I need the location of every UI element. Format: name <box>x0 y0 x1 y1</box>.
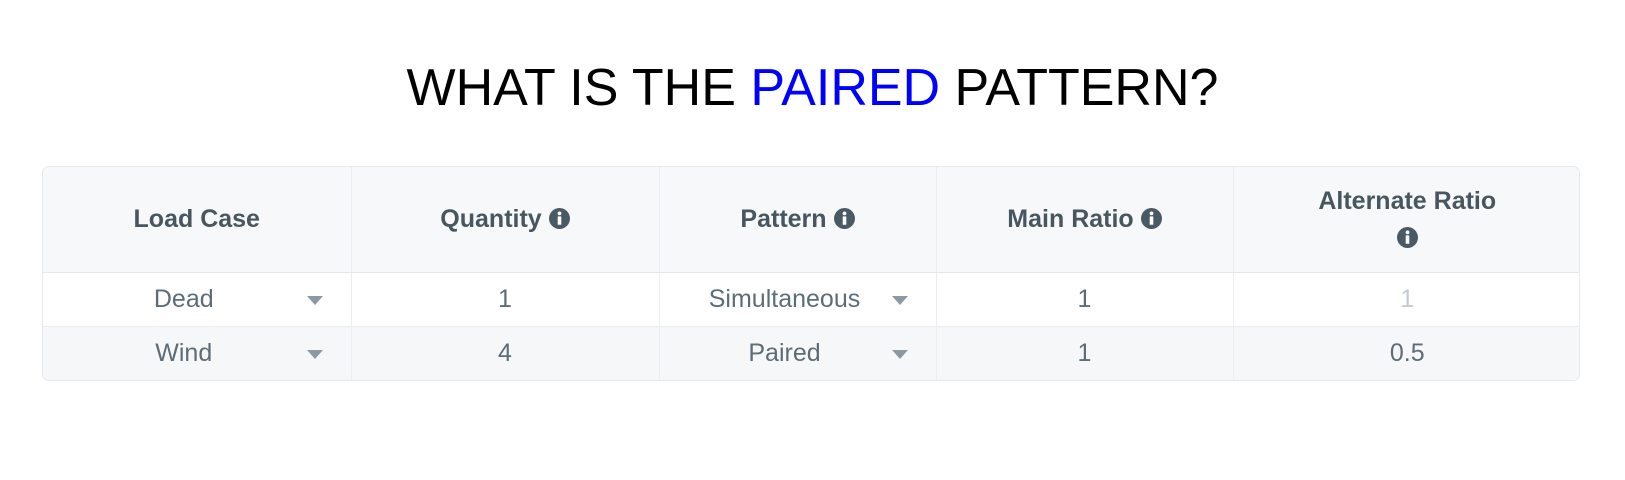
cell-pattern[interactable]: Simultaneous <box>659 272 936 326</box>
cell-quantity[interactable]: 1 <box>351 272 659 326</box>
column-header-quantity: Quantity <box>351 167 659 272</box>
load-case-select[interactable]: Dead <box>53 273 341 326</box>
column-header-load-case-label: Load Case <box>134 205 260 233</box>
info-icon[interactable] <box>549 208 570 229</box>
pattern-value: Simultaneous <box>670 273 926 326</box>
main-ratio-value: 1 <box>1078 339 1092 367</box>
table-row: Dead 1 Simultaneous 1 <box>43 272 1580 326</box>
cell-load-case[interactable]: Dead <box>43 272 351 326</box>
table-body: Dead 1 Simultaneous 1 <box>43 272 1580 380</box>
chevron-down-icon[interactable] <box>307 296 323 305</box>
pattern-select[interactable]: Paired <box>670 327 926 380</box>
quantity-value: 4 <box>498 339 512 367</box>
column-header-quantity-label: Quantity <box>440 205 541 233</box>
page-title-after: PATTERN? <box>940 59 1218 117</box>
cell-pattern[interactable]: Paired <box>659 326 936 380</box>
column-header-alternate-ratio-label: Alternate Ratio <box>1318 187 1496 215</box>
cell-main-ratio[interactable]: 1 <box>936 272 1233 326</box>
page-root: WHAT IS THE PAIRED PATTERN? Load Case Qu… <box>0 0 1625 480</box>
cell-quantity[interactable]: 4 <box>351 326 659 380</box>
column-header-main-ratio: Main Ratio <box>936 167 1233 272</box>
cell-main-ratio[interactable]: 1 <box>936 326 1233 380</box>
load-case-value: Wind <box>53 327 341 380</box>
table-row: Wind 4 Paired 1 <box>43 326 1580 380</box>
column-header-load-case: Load Case <box>43 167 351 272</box>
load-case-table-container: Load Case Quantity Pattern Main Ratio Al… <box>42 166 1580 381</box>
cell-load-case[interactable]: Wind <box>43 326 351 380</box>
alternate-ratio-value: 1 <box>1400 285 1414 313</box>
column-header-pattern-label: Pattern <box>740 205 826 233</box>
info-icon-line <box>1244 221 1572 253</box>
chevron-down-icon[interactable] <box>307 350 323 359</box>
load-case-table: Load Case Quantity Pattern Main Ratio Al… <box>43 167 1580 380</box>
column-header-pattern: Pattern <box>659 167 936 272</box>
cell-alternate-ratio[interactable]: 0.5 <box>1233 326 1580 380</box>
info-icon[interactable] <box>834 208 855 229</box>
info-icon[interactable] <box>1141 208 1162 229</box>
table-header-row: Load Case Quantity Pattern Main Ratio Al… <box>43 167 1580 272</box>
pattern-select[interactable]: Simultaneous <box>670 273 926 326</box>
load-case-value: Dead <box>53 273 341 326</box>
pattern-value: Paired <box>670 327 926 380</box>
load-case-select[interactable]: Wind <box>53 327 341 380</box>
chevron-down-icon[interactable] <box>892 350 908 359</box>
chevron-down-icon[interactable] <box>892 296 908 305</box>
page-title-before: WHAT IS THE <box>407 59 751 117</box>
column-header-main-ratio-label: Main Ratio <box>1007 205 1133 233</box>
column-header-alternate-ratio: Alternate Ratio <box>1233 167 1580 272</box>
quantity-value: 1 <box>498 285 512 313</box>
cell-alternate-ratio: 1 <box>1233 272 1580 326</box>
info-icon[interactable] <box>1397 227 1418 248</box>
page-title: WHAT IS THE PAIRED PATTERN? <box>0 62 1625 114</box>
alternate-ratio-value: 0.5 <box>1390 339 1425 367</box>
table-header: Load Case Quantity Pattern Main Ratio Al… <box>43 167 1580 272</box>
page-title-highlight: PAIRED <box>750 59 940 117</box>
main-ratio-value: 1 <box>1078 285 1092 313</box>
